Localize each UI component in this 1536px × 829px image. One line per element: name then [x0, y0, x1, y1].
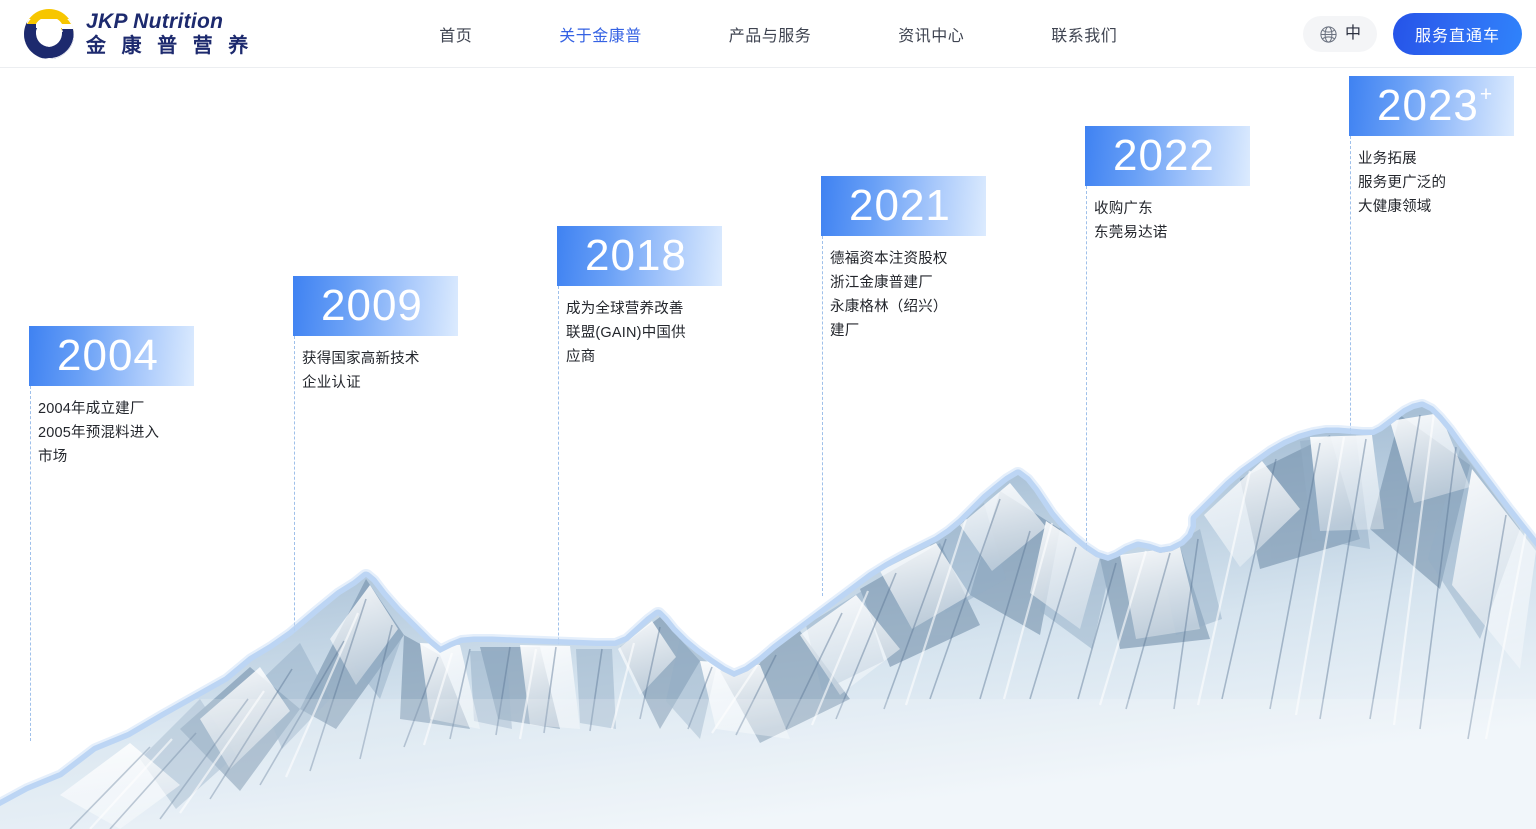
language-label: 中 [1345, 26, 1361, 42]
timeline-dashed-line [558, 286, 559, 741]
timeline-description: 获得国家高新技术 企业认证 [302, 347, 472, 395]
timeline-desc-line: 获得国家高新技术 [302, 347, 472, 371]
timeline-year-label: 2004 [57, 334, 159, 378]
timeline-node-2004[interactable]: 2004 2004年成立建厂 2005年预混料进入 市场 [29, 326, 208, 469]
timeline-dashed-line [294, 336, 295, 741]
timeline-desc-line: 2005年预混料进入 [38, 421, 208, 445]
timeline-desc-line: 服务更广泛的 [1358, 171, 1528, 195]
timeline-year-label: 2022 [1113, 134, 1215, 178]
timeline-year-label: 2021 [849, 184, 951, 228]
timeline-desc-line: 成为全球营养改善 [566, 297, 736, 321]
timeline-desc-line: 市场 [38, 445, 208, 469]
nav-item-news[interactable]: 资讯中心 [898, 16, 964, 52]
timeline-desc-line: 永康格林（绍兴） [830, 295, 1000, 319]
timeline-desc-line: 企业认证 [302, 371, 472, 395]
site-logo[interactable]: JKP Nutrition 金 康 普 营 养 [22, 7, 253, 61]
timeline-desc-line: 大健康领域 [1358, 195, 1528, 219]
timeline-desc-line: 应商 [566, 345, 736, 369]
timeline-year-badge: 2021 [821, 176, 986, 236]
timeline-description: 成为全球营养改善 联盟(GAIN)中国供 应商 [566, 297, 736, 369]
logo-text-chinese: 金 康 普 营 养 [86, 36, 253, 56]
timeline-description: 业务拓展 服务更广泛的 大健康领域 [1358, 147, 1528, 219]
timeline-description: 收购广东 东莞易达诺 [1094, 197, 1264, 245]
nav-item-about[interactable]: 关于金康普 [559, 16, 642, 52]
timeline-dashed-line [1350, 136, 1351, 466]
timeline-node-2021[interactable]: 2021 德福资本注资股权 浙江金康普建厂 永康格林（绍兴） 建厂 [821, 176, 1000, 343]
timeline-desc-line: 收购广东 [1094, 197, 1264, 221]
nav-item-home[interactable]: 首页 [439, 16, 472, 52]
timeline-node-2022[interactable]: 2022 收购广东 东莞易达诺 [1085, 126, 1264, 245]
timeline-node-2009[interactable]: 2009 获得国家高新技术 企业认证 [293, 276, 472, 395]
timeline-desc-line: 浙江金康普建厂 [830, 271, 1000, 295]
timeline-node-2023[interactable]: 2023+ 业务拓展 服务更广泛的 大健康领域 [1349, 76, 1528, 219]
timeline-description: 德福资本注资股权 浙江金康普建厂 永康格林（绍兴） 建厂 [830, 247, 1000, 343]
timeline-year-badge: 2004 [29, 326, 194, 386]
timeline-year-label: 2009 [321, 284, 423, 328]
language-switcher[interactable]: 中 [1303, 16, 1377, 52]
timeline-desc-line: 德福资本注资股权 [830, 247, 1000, 271]
globe-icon [1319, 25, 1338, 44]
timeline-year-label: 2023 [1377, 84, 1479, 128]
logo-text-english: JKP Nutrition [86, 11, 253, 32]
timeline-node-2018[interactable]: 2018 成为全球营养改善 联盟(GAIN)中国供 应商 [557, 226, 736, 369]
timeline-dashed-line [1086, 186, 1087, 556]
timeline-dashed-line [30, 386, 31, 741]
company-timeline: 2004 2004年成立建厂 2005年预混料进入 市场 2009 获得国家高新… [0, 68, 1536, 829]
timeline-year-suffix: + [1480, 84, 1493, 105]
timeline-dashed-line [822, 236, 823, 596]
timeline-year-badge: 2023+ [1349, 76, 1514, 136]
main-navigation: 首页 关于金康普 产品与服务 资讯中心 联系我们 [439, 16, 1117, 52]
timeline-desc-line: 2004年成立建厂 [38, 397, 208, 421]
timeline-desc-line: 建厂 [830, 319, 1000, 343]
timeline-desc-line: 业务拓展 [1358, 147, 1528, 171]
page-root: JKP Nutrition 金 康 普 营 养 首页 关于金康普 产品与服务 资… [0, 0, 1536, 829]
nav-item-contact[interactable]: 联系我们 [1051, 16, 1117, 52]
site-header: JKP Nutrition 金 康 普 营 养 首页 关于金康普 产品与服务 资… [0, 0, 1536, 68]
timeline-description: 2004年成立建厂 2005年预混料进入 市场 [38, 397, 208, 469]
timeline-desc-line: 东莞易达诺 [1094, 221, 1264, 245]
timeline-year-badge: 2018 [557, 226, 722, 286]
timeline-year-badge: 2009 [293, 276, 458, 336]
timeline-year-badge: 2022 [1085, 126, 1250, 186]
jkp-circular-logo [22, 7, 76, 61]
nav-item-products[interactable]: 产品与服务 [729, 16, 812, 52]
timeline-desc-line: 联盟(GAIN)中国供 [566, 321, 736, 345]
timeline-year-label: 2018 [585, 234, 687, 278]
header-actions: 中 服务直通车 [1303, 0, 1522, 68]
service-express-button[interactable]: 服务直通车 [1393, 13, 1522, 55]
